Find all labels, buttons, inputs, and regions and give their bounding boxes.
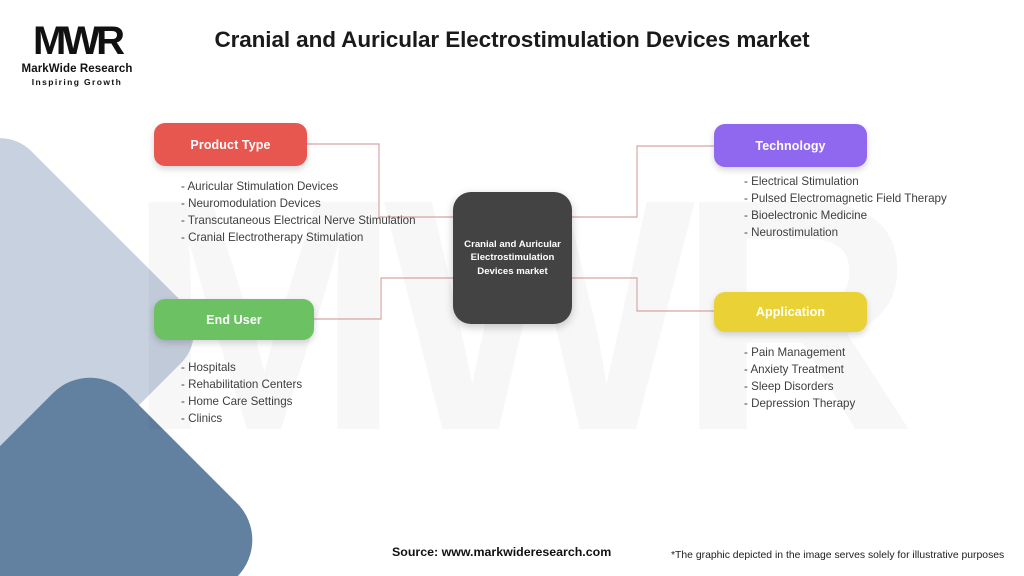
list-item: - Auricular Stimulation Devices (181, 178, 416, 195)
list-item: - Hospitals (181, 359, 302, 376)
list-item: - Anxiety Treatment (744, 361, 855, 378)
branch-node-application-label: Application (756, 305, 825, 319)
branch-node-application[interactable]: Application (714, 292, 867, 332)
list-item: - Transcutaneous Electrical Nerve Stimul… (181, 212, 416, 229)
infographic-canvas: MWR MWR MarkWide Research Inspiring Grow… (0, 0, 1024, 576)
center-node-label: Cranial and Auricular Electrostimulation… (458, 238, 567, 279)
list-item: - Pain Management (744, 344, 855, 361)
item-list-application: - Pain Management - Anxiety Treatment - … (744, 344, 855, 412)
branch-node-technology[interactable]: Technology (714, 124, 867, 167)
list-item: - Cranial Electrotherapy Stimulation (181, 229, 416, 246)
item-list-end-user: - Hospitals - Rehabilitation Centers - H… (181, 359, 302, 427)
item-list-technology: - Electrical Stimulation - Pulsed Electr… (744, 173, 947, 241)
list-item: - Sleep Disorders (744, 378, 855, 395)
branch-node-product-type-label: Product Type (190, 138, 270, 152)
list-item: - Depression Therapy (744, 395, 855, 412)
connector-technology (572, 146, 714, 217)
list-item: - Rehabilitation Centers (181, 376, 302, 393)
list-item: - Pulsed Electromagnetic Field Therapy (744, 190, 947, 207)
list-item: - Neurostimulation (744, 224, 947, 241)
branch-node-end-user[interactable]: End User (154, 299, 314, 340)
branch-node-technology-label: Technology (755, 139, 825, 153)
center-node[interactable]: Cranial and Auricular Electrostimulation… (453, 192, 572, 324)
footer-disclaimer: *The graphic depicted in the image serve… (671, 550, 1004, 561)
connector-application (572, 278, 714, 311)
footer-source: Source: www.markwideresearch.com (392, 545, 611, 559)
list-item: - Bioelectronic Medicine (744, 207, 947, 224)
list-item: - Home Care Settings (181, 393, 302, 410)
branch-node-product-type[interactable]: Product Type (154, 123, 307, 166)
list-item: - Clinics (181, 410, 302, 427)
list-item: - Neuromodulation Devices (181, 195, 416, 212)
item-list-product-type: - Auricular Stimulation Devices - Neurom… (181, 178, 416, 246)
list-item: - Electrical Stimulation (744, 173, 947, 190)
connector-end-user (314, 278, 453, 319)
branch-node-end-user-label: End User (206, 313, 262, 327)
